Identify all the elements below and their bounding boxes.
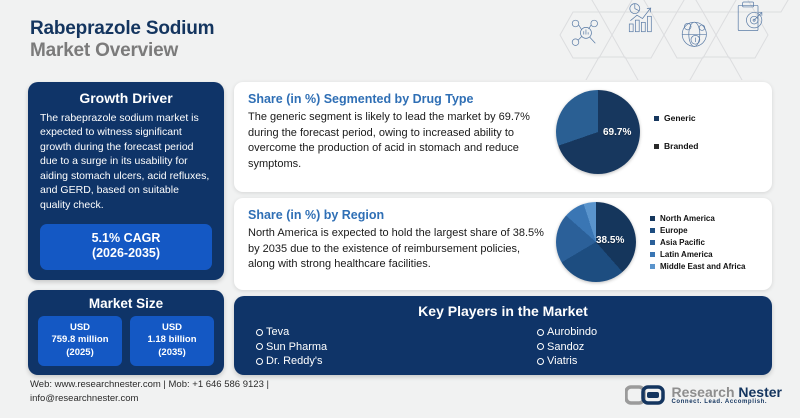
region-pie-label: 38.5% <box>596 235 624 246</box>
title-line-1: Rabeprazole Sodium <box>30 18 214 40</box>
legend-item-asia-pacific: Asia Pacific <box>650 238 746 247</box>
drug-type-card: Share (in %) Segmented by Drug Type The … <box>234 82 772 192</box>
drug-type-body: The generic segment is likely to lead th… <box>248 110 548 172</box>
player-name: Viatris <box>547 354 577 369</box>
key-players-left-column: Teva Sun Pharma Dr. Reddy's <box>244 325 503 369</box>
drug-type-legend: Generic Branded <box>654 95 698 169</box>
region-chart: 38.5% North America Europe Asia Pacific <box>556 202 746 282</box>
network-search-icon <box>572 20 597 45</box>
bullet-icon <box>537 343 544 350</box>
market-size-year-2025: (2025) <box>40 347 120 359</box>
drug-type-text: Share (in %) Segmented by Drug Type The … <box>248 92 548 172</box>
drug-type-pie-label: 69.7% <box>603 127 631 138</box>
market-size-currency-2035: USD <box>132 322 212 334</box>
market-size-year-2035: (2035) <box>132 347 212 359</box>
region-text: Share (in %) by Region North America is … <box>248 208 548 273</box>
list-item: Viatris <box>537 354 762 369</box>
list-item: Sun Pharma <box>256 340 503 355</box>
bullet-icon <box>256 343 263 350</box>
market-size-currency-2025: USD <box>40 322 120 334</box>
bullet-icon <box>256 358 263 365</box>
drug-type-chart: 69.7% Generic Branded <box>556 90 698 174</box>
legend-item-north-america: North America <box>650 214 746 223</box>
key-players-columns: Teva Sun Pharma Dr. Reddy's Aurobindo <box>244 325 762 369</box>
hexagon-decoration <box>540 0 800 70</box>
legend-item-branded: Branded <box>654 141 698 151</box>
logo-text: Research Nester Connect. Lead. Accomplis… <box>671 385 782 406</box>
legend-label-middle-east-africa: Middle East and Africa <box>660 262 746 271</box>
title-line-2: Market Overview <box>30 40 214 62</box>
bullet-icon <box>537 358 544 365</box>
legend-marker-middle-east-africa <box>650 264 655 269</box>
legend-item-latin-america: Latin America <box>650 250 746 259</box>
legend-label-europe: Europe <box>660 226 688 235</box>
region-legend: North America Europe Asia Pacific Latin … <box>650 211 746 274</box>
company-logo: Research Nester Connect. Lead. Accomplis… <box>625 384 782 406</box>
footer-contact: Web: www.researchnester.com | Mob: +1 64… <box>30 378 360 406</box>
key-players-right-column: Aurobindo Sandoz Viatris <box>503 325 762 369</box>
legend-item-middle-east-africa: Middle East and Africa <box>650 262 746 271</box>
market-size-box-2035: USD 1.18 billion (2035) <box>130 316 214 366</box>
region-pie: 38.5% <box>556 202 636 282</box>
key-players-title: Key Players in the Market <box>244 303 762 319</box>
region-body: North America is expected to hold the la… <box>248 226 548 273</box>
growth-driver-title: Growth Driver <box>40 90 212 106</box>
bar-chart-growth-icon <box>629 4 651 32</box>
growth-driver-body: The rabeprazole sodium market is expecte… <box>40 111 212 212</box>
market-size-boxes: USD 759.8 million (2025) USD 1.18 billio… <box>38 316 214 366</box>
legend-marker-branded <box>654 144 659 149</box>
logo-name-part2: Nester <box>738 384 782 400</box>
player-name: Sun Pharma <box>266 340 327 355</box>
list-item: Sandoz <box>537 340 762 355</box>
player-name: Aurobindo <box>547 325 597 340</box>
legend-marker-generic <box>654 116 659 121</box>
bullet-icon <box>256 329 263 336</box>
legend-label-generic: Generic <box>664 113 696 123</box>
key-players-card: Key Players in the Market Teva Sun Pharm… <box>234 296 772 375</box>
region-card: Share (in %) by Region North America is … <box>234 198 772 290</box>
market-size-value-2025: 759.8 million <box>40 334 120 346</box>
legend-label-asia-pacific: Asia Pacific <box>660 238 705 247</box>
player-name: Dr. Reddy's <box>266 354 323 369</box>
market-size-box-2025: USD 759.8 million (2025) <box>38 316 122 366</box>
legend-marker-europe <box>650 228 655 233</box>
player-name: Teva <box>266 325 289 340</box>
chain-link-icon <box>625 384 665 406</box>
growth-driver-card: Growth Driver The rabeprazole sodium mar… <box>28 82 224 280</box>
legend-marker-north-america <box>650 216 655 221</box>
bullet-icon <box>537 329 544 336</box>
market-size-value-2035: 1.18 billion <box>132 334 212 346</box>
infographic-page: Rabeprazole Sodium Market Overview Growt… <box>0 0 800 418</box>
logo-name: Research Nester <box>671 385 782 400</box>
drug-type-pie: 69.7% <box>556 90 640 174</box>
cagr-value: 5.1% CAGR <box>40 231 212 247</box>
player-name: Sandoz <box>547 340 584 355</box>
legend-item-generic: Generic <box>654 113 698 123</box>
list-item: Teva <box>256 325 503 340</box>
cagr-badge: 5.1% CAGR (2026-2035) <box>40 224 212 270</box>
region-heading: Share (in %) by Region <box>248 208 548 222</box>
legend-marker-latin-america <box>650 252 655 257</box>
legend-item-europe: Europe <box>650 226 746 235</box>
page-title: Rabeprazole Sodium Market Overview <box>30 18 214 62</box>
globe-research-icon <box>682 22 706 46</box>
clipboard-target-icon <box>738 2 762 31</box>
logo-tagline: Connect. Lead. Accomplish. <box>671 399 782 405</box>
list-item: Dr. Reddy's <box>256 354 503 369</box>
logo-name-part1: Research <box>671 384 738 400</box>
market-size-title: Market Size <box>38 296 214 311</box>
drug-type-heading: Share (in %) Segmented by Drug Type <box>248 92 548 106</box>
legend-marker-asia-pacific <box>650 240 655 245</box>
legend-label-branded: Branded <box>664 141 698 151</box>
market-size-card: Market Size USD 759.8 million (2025) USD… <box>28 290 224 375</box>
legend-label-latin-america: Latin America <box>660 250 713 259</box>
legend-label-north-america: North America <box>660 214 715 223</box>
cagr-period: (2026-2035) <box>40 246 212 262</box>
list-item: Aurobindo <box>537 325 762 340</box>
